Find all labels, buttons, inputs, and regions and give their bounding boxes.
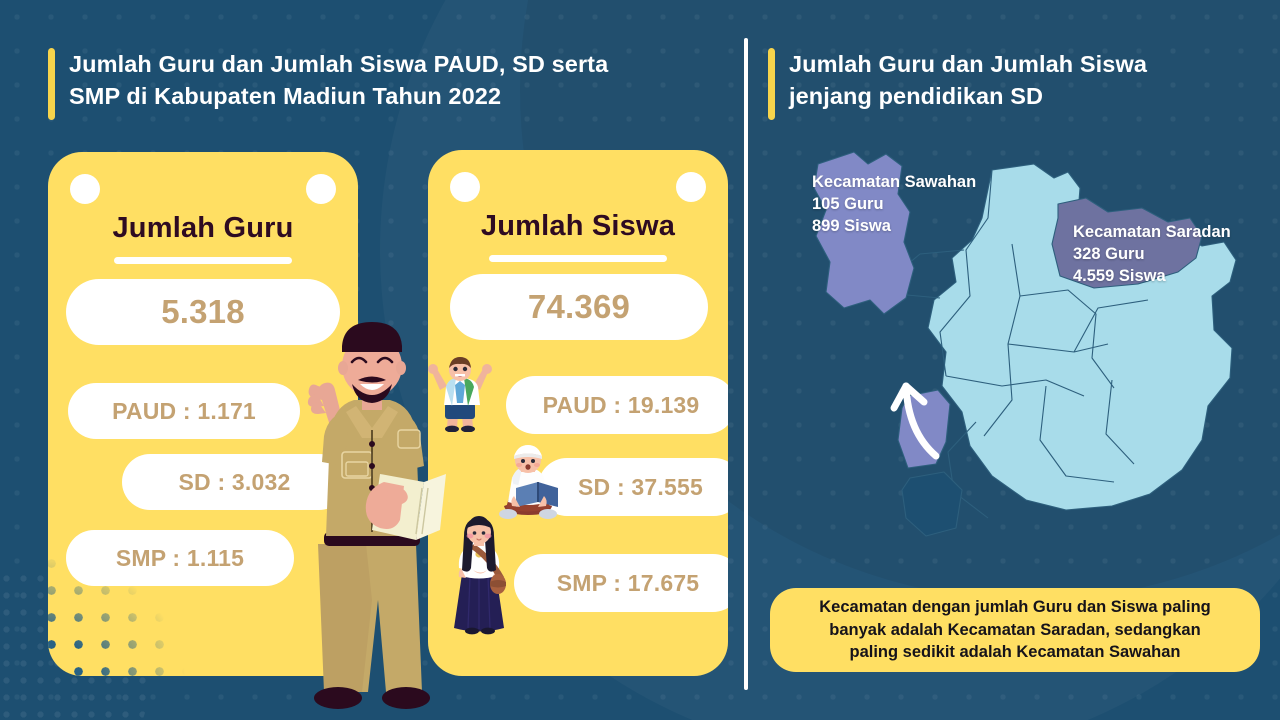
- card-hole-right-icon: [676, 172, 706, 202]
- left-panel-title: Jumlah Guru dan Jumlah Siswa PAUD, SD se…: [48, 48, 608, 120]
- guru-smp-value: SMP : 1.115: [66, 530, 294, 586]
- map-label-sawahan: Kecamatan Sawahan 105 Guru 899 Siswa: [812, 172, 976, 237]
- callout-box: Kecamatan dengan jumlah Guru dan Siswa p…: [770, 588, 1260, 672]
- card-siswa-heading: Jumlah Siswa: [428, 210, 728, 243]
- guru-total-value: 5.318: [66, 279, 340, 345]
- left-title-text: Jumlah Guru dan Jumlah Siswa PAUD, SD se…: [69, 48, 608, 113]
- panel-divider: [744, 38, 748, 690]
- guru-sd-value: SD : 3.032: [122, 454, 347, 510]
- card-hole-right-icon: [306, 174, 336, 204]
- card-guru-heading: Jumlah Guru: [48, 212, 358, 245]
- card-jumlah-guru: Jumlah Guru 5.318 PAUD : 1.171 SD : 3.03…: [48, 152, 358, 676]
- right-panel-title: Jumlah Guru dan Jumlah Siswa jenjang pen…: [768, 48, 1147, 120]
- card-siswa-underline: [489, 255, 667, 262]
- card-guru-underline: [114, 257, 292, 264]
- callout-text: Kecamatan dengan jumlah Guru dan Siswa p…: [819, 596, 1211, 663]
- card-jumlah-siswa: Jumlah Siswa 74.369 PAUD : 19.139 SD : 3…: [428, 150, 728, 676]
- card-hole-left-icon: [70, 174, 100, 204]
- title-accent-bar: [48, 48, 55, 120]
- card-hole-left-icon: [450, 172, 480, 202]
- card-dot-decoration: [48, 496, 248, 676]
- map-district-inset-dark: [902, 472, 962, 536]
- map-label-saradan: Kecamatan Saradan 328 Guru 4.559 Siswa: [1073, 222, 1231, 287]
- siswa-paud-value: PAUD : 19.139: [506, 376, 728, 434]
- guru-paud-value: PAUD : 1.171: [68, 383, 300, 439]
- siswa-total-value: 74.369: [450, 274, 708, 340]
- title-accent-bar: [768, 48, 775, 120]
- right-title-text: Jumlah Guru dan Jumlah Siswa jenjang pen…: [789, 48, 1147, 113]
- siswa-smp-value: SMP : 17.675: [514, 554, 728, 612]
- siswa-sd-value: SD : 37.555: [538, 458, 728, 516]
